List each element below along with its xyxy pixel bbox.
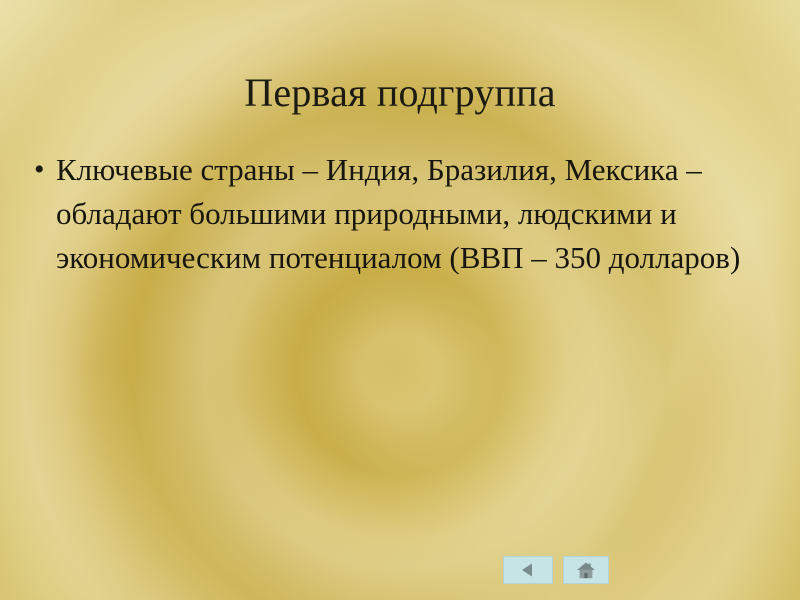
bullet-text: Ключевые страны – Индия, Бразилия, Мекси… xyxy=(56,148,746,280)
home-icon xyxy=(576,561,596,580)
home-button[interactable] xyxy=(563,556,609,584)
slide-navigation-bar xyxy=(503,556,609,584)
triangle-left-icon xyxy=(519,561,537,579)
slide-body: • Ключевые страны – Индия, Бразилия, Мек… xyxy=(34,148,746,280)
slide-title: Первая подгруппа xyxy=(0,71,800,116)
bullet-marker-icon: • xyxy=(34,148,56,192)
list-item: • Ключевые страны – Индия, Бразилия, Мек… xyxy=(34,148,746,280)
back-button[interactable] xyxy=(503,556,553,584)
presentation-slide: Первая подгруппа • Ключевые страны – Инд… xyxy=(0,0,800,600)
